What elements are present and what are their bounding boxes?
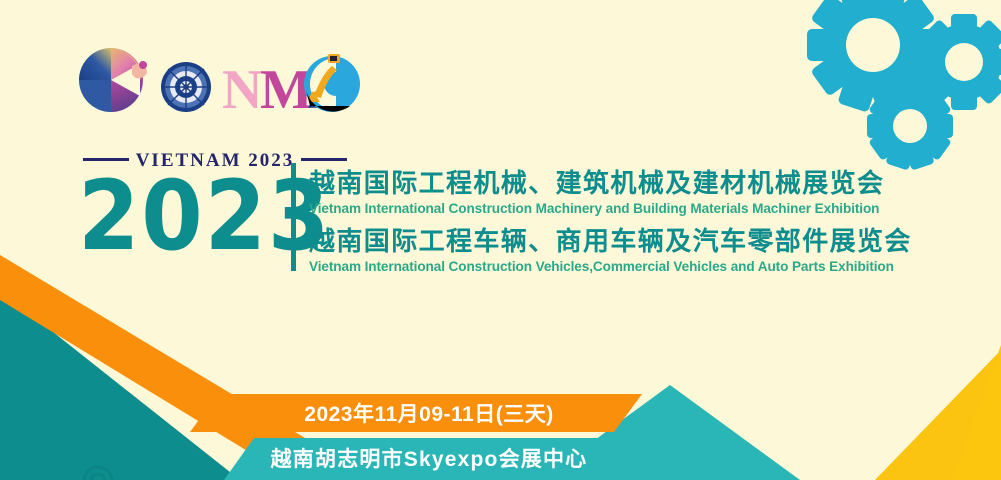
exhibition-poster: N M A VIETNAM 2023 2023 越南国际工程机械、建筑机械及建材…	[0, 0, 1001, 480]
venue-banner-text: 越南胡志明市Skyexpo会展中心	[0, 443, 858, 473]
date-banner-text: 2023年11月09-11日(三天)	[0, 398, 858, 428]
